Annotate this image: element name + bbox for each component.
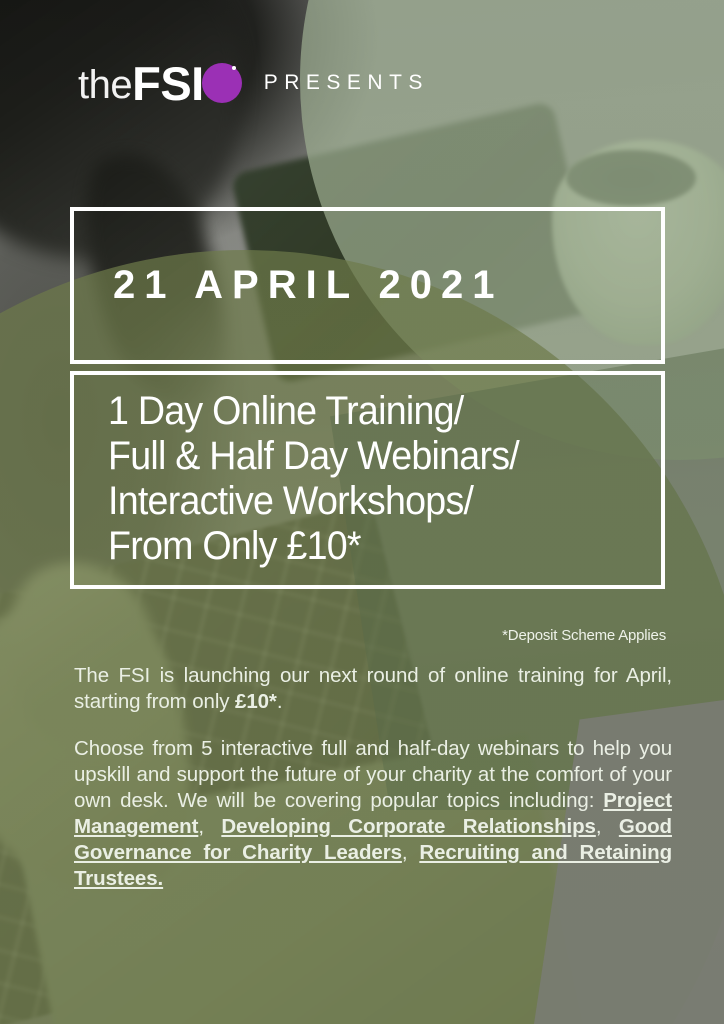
topic-separator-1: ,: [198, 815, 221, 838]
topic-separator-3: ,: [402, 841, 419, 864]
purple-circle-icon: [202, 63, 242, 103]
date-text: 21 APRIL 2021: [113, 263, 504, 308]
logo-fsi-text: FSI: [132, 60, 204, 107]
price-highlight: £10*: [235, 690, 277, 713]
paragraph-details: Choose from 5 interactive full and half-…: [74, 736, 672, 892]
deposit-note: *Deposit Scheme Applies: [502, 627, 666, 644]
headline-line-4: From Only £10*: [108, 524, 628, 569]
paragraph-intro-text-b: .: [277, 690, 283, 713]
topic-link-developing-corporate-relationships[interactable]: Developing Corporate Relationships: [221, 815, 596, 838]
body-copy: The FSI is launching our next round of o…: [74, 663, 672, 892]
paragraph-intro: The FSI is launching our next round of o…: [74, 663, 672, 715]
paragraph-details-text: Choose from 5 interactive full and half-…: [74, 737, 672, 812]
paragraph-intro-text-a: The FSI is launching our next round of o…: [74, 664, 672, 713]
headline-line-2: Full & Half Day Webinars/: [108, 434, 628, 479]
poster-content: the FSI PRESENTS 21 APRIL 2021 1 Day Onl…: [0, 0, 724, 1024]
brand-logo: the FSI PRESENTS: [78, 56, 429, 110]
headline-line-3: Interactive Workshops/: [108, 479, 628, 524]
logo-the-text: the: [78, 65, 132, 105]
headline-box: 1 Day Online Training/ Full & Half Day W…: [70, 371, 665, 589]
date-banner: 21 APRIL 2021: [70, 207, 665, 364]
headline-line-1: 1 Day Online Training/: [108, 389, 628, 434]
poster-canvas: the FSI PRESENTS 21 APRIL 2021 1 Day Onl…: [0, 0, 724, 1024]
topic-separator-2: ,: [596, 815, 619, 838]
presents-label: PRESENTS: [264, 71, 429, 95]
